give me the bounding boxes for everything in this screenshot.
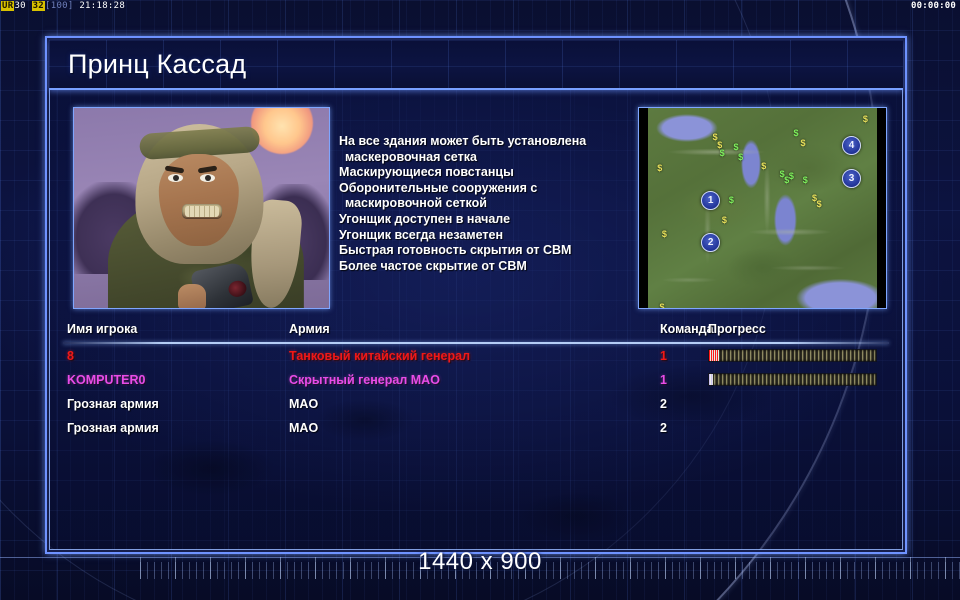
ability-line: Маскирующиеся повстанцы [339,165,639,181]
player-name-cell: 8 [67,349,74,363]
map-resource-marker: $ [733,142,738,152]
table-row[interactable]: 8Танковый китайский генерал1 [63,349,889,373]
map-resource-marker: $ [800,138,805,148]
progress-bar [708,349,877,362]
ability-line: Быстрая готовность скрытия от СВМ [339,243,639,259]
page-title: Принц Кассад [68,49,246,80]
panel-content: На все здания может быть установленамаск… [49,94,903,550]
table-header-separator [63,342,889,344]
session-clock: 21:18:28 [79,1,125,11]
map-resource-marker: $ [794,128,799,138]
player-progress-cell [708,349,877,362]
status-bar: UR30 32[100] 21:18:28 00:00:00 [0,0,960,12]
player-team-cell: 2 [660,421,667,435]
table-body: 8Танковый китайский генерал1KOMPUTER0Скр… [63,349,889,445]
column-header-army: Армия [289,322,330,336]
player-team-cell: 1 [660,373,667,387]
player-army-cell: Скрытный генерал MAO [289,373,440,387]
table-row[interactable]: KOMPUTER0Скрытный генерал MAO1 [63,373,889,397]
progress-bar-fill [709,350,719,361]
player-progress-cell [708,373,877,386]
portrait-eye-right [200,174,215,182]
map-start-position[interactable]: 1 [701,191,720,210]
map-paths [648,108,877,308]
ability-line: Угонщик всегда незаметен [339,228,639,244]
map-resource-marker: $ [662,229,667,239]
map-resource-marker: $ [657,163,662,173]
ability-line: На все здания может быть установлена [339,134,639,150]
fps-value: 30 [14,1,25,11]
fps-value-secondary: 32 [32,1,45,11]
player-army-cell: MAO [289,421,318,435]
portrait-eye-left [168,174,183,182]
map-preview: $$$$$$$$$$$$$$$$$$$$$1234 [638,107,887,309]
table-row[interactable]: Грозная армияMAO2 [63,421,889,445]
general-portrait [73,107,330,309]
column-header-progress: Прогресс [708,322,766,336]
player-name-cell: Грозная армия [67,421,159,435]
title-bar: Принц Кассад [49,40,903,90]
map-resource-marker: $ [717,140,722,150]
map-resource-marker: $ [817,199,822,209]
loading-screen-panel: Принц Кассад На все здания может быть ус… [45,36,907,554]
ability-line: маскировочной сеткой [339,196,639,212]
faction-ability-list: На все здания может быть установленамаск… [339,134,639,274]
player-name-cell: KOMPUTER0 [67,373,145,387]
player-team-cell: 2 [660,397,667,411]
map-resource-marker: $ [738,152,743,162]
map-resource-marker: $ [789,171,794,181]
column-header-team: Команда [660,322,714,336]
player-team-cell: 1 [660,349,667,363]
map-resource-marker: $ [761,161,766,171]
map-start-position[interactable]: 3 [842,169,861,188]
map-resource-marker: $ [863,114,868,124]
fps-counter: UR30 32[100] 21:18:28 [1,0,125,12]
table-header-row: Имя игрока Армия Команда Прогресс [63,322,889,341]
fps-max: [100] [45,1,74,11]
resolution-label: 1440 x 900 [0,548,960,576]
portrait-mouth [182,204,222,219]
map-resource-marker: $ [803,175,808,185]
progress-bar [708,373,877,386]
player-name-cell: Грозная армия [67,397,159,411]
column-header-player-name: Имя игрока [67,322,137,336]
fps-label: UR [1,1,14,11]
map-resource-marker: $ [729,195,734,205]
map-resource-marker: $ [660,302,665,309]
player-army-cell: Танковый китайский генерал [289,349,470,363]
ability-line: Более частое скрытие от СВМ [339,259,639,275]
table-row[interactable]: Грозная армияMAO2 [63,397,889,421]
player-table: Имя игрока Армия Команда Прогресс 8Танко… [63,322,889,445]
portrait-hand [178,284,206,309]
player-army-cell: MAO [289,397,318,411]
game-timer: 00:00:00 [911,0,956,12]
progress-bar-fill [709,374,713,385]
ability-line: Угонщик доступен в начале [339,212,639,228]
map-resource-marker: $ [722,215,727,225]
ability-line: Оборонительные сооружения с [339,181,639,197]
ability-line: маскеровочная сетка [339,150,639,166]
